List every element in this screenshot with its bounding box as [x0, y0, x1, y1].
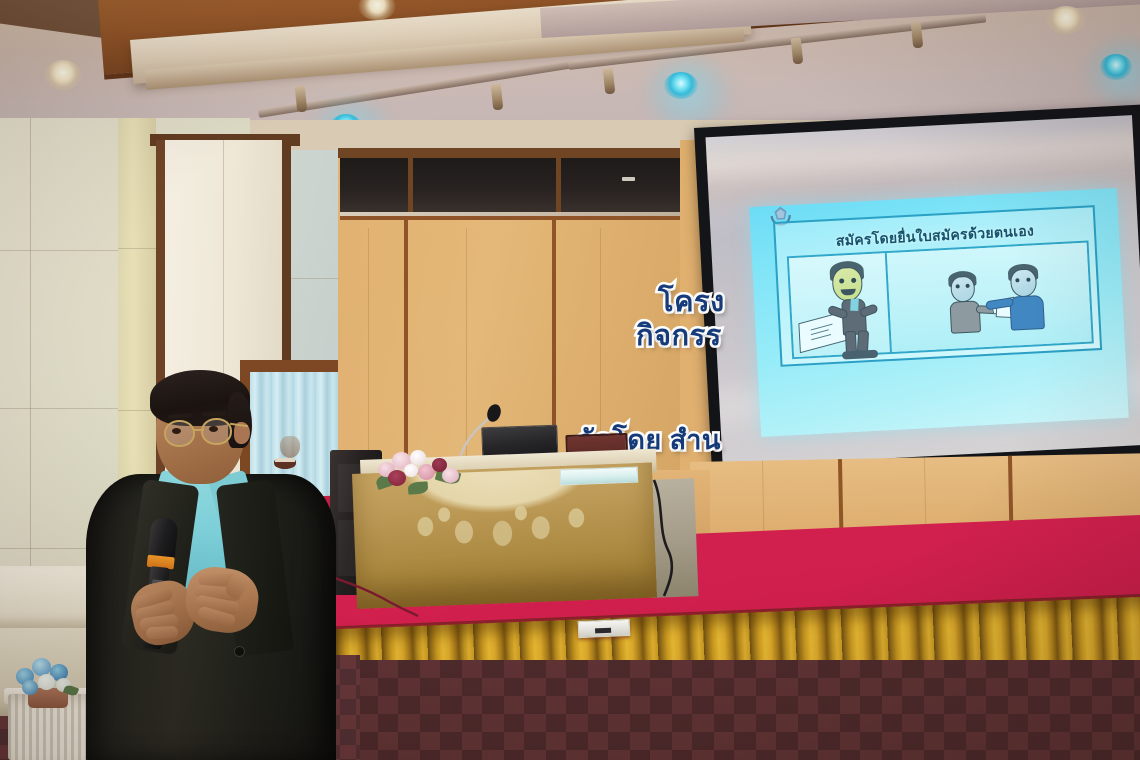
presenter-figure [58, 370, 358, 760]
microphone-head [148, 517, 179, 560]
document-label [595, 628, 611, 634]
flower-arrangement [374, 448, 466, 500]
power-cable [648, 478, 688, 598]
slide-content: สมัครโดยยื่นใบสมัครด้วยตนเอง [749, 188, 1129, 437]
eyeglasses-lens-right [201, 418, 232, 445]
banner-line-2: กิจกรร [636, 312, 722, 358]
mouth [274, 458, 296, 469]
jacket-button [234, 646, 245, 657]
projection-screen: สมัครโดยยื่นใบสมัครด้วยตนเอง [694, 105, 1140, 488]
screen-surface: สมัครโดยยื่นใบสมัครด้วยตนเอง [706, 115, 1140, 467]
spotlight-3 [1100, 54, 1132, 80]
eye-right [209, 426, 218, 432]
slide-inner-frame: สมัครโดยยื่นใบสมัครด้วยตนเอง [773, 205, 1102, 367]
documents-on-table [560, 467, 639, 486]
nose [280, 436, 300, 458]
spotlight-2 [664, 72, 698, 99]
slide-panel-left [789, 253, 892, 357]
slide-image-row [787, 241, 1094, 360]
eyeglasses-bridge [194, 429, 204, 431]
eye-left [172, 428, 181, 434]
document-on-stage [578, 619, 631, 638]
seminar-photograph: สมัครโดยยื่นใบสมัครด้วยตนเอง [0, 0, 1140, 760]
recessed-light-1 [44, 60, 82, 90]
eyeglasses-lens-left [164, 420, 195, 447]
slide-panel-right [887, 243, 1092, 352]
transom-glint [622, 177, 635, 181]
teeth [275, 458, 295, 462]
recessed-light-3 [1046, 6, 1086, 34]
